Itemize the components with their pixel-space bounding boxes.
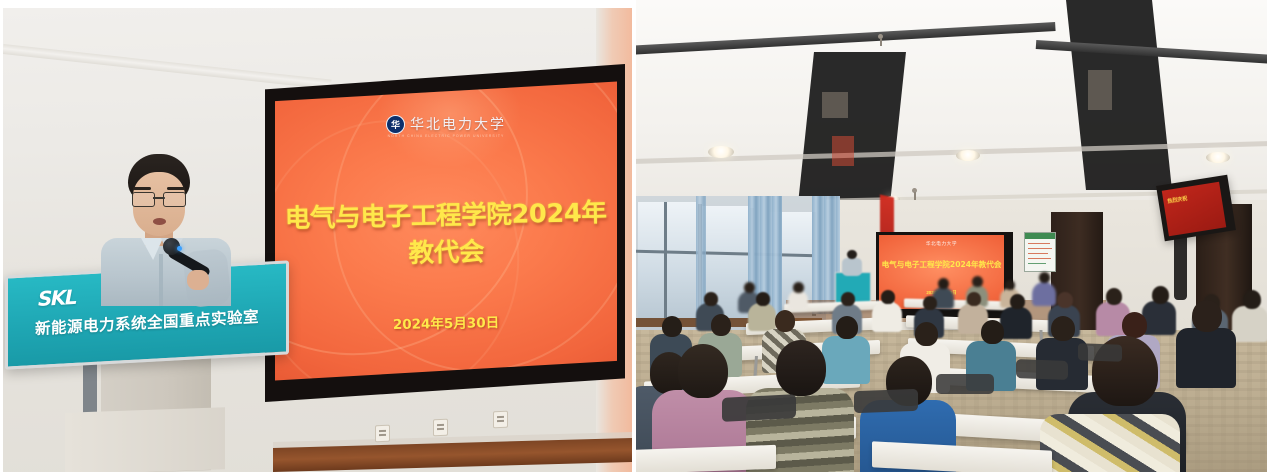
attendee-head xyxy=(1122,312,1147,338)
attendee-body xyxy=(788,290,808,310)
attendee-head xyxy=(981,320,1004,344)
wall-notice-sign xyxy=(1024,232,1056,272)
notice-line xyxy=(1028,258,1051,259)
attendee xyxy=(1232,290,1267,338)
glasses-lens-left xyxy=(132,192,155,207)
front-speaker-person xyxy=(842,250,862,276)
window-mullion xyxy=(664,202,667,320)
shirt-placket xyxy=(159,254,163,306)
wall-outlet xyxy=(433,419,448,437)
attendee-head xyxy=(1010,294,1025,309)
attendee-head xyxy=(793,282,804,293)
attendee-head xyxy=(776,340,826,396)
skl-logo: SKL xyxy=(38,285,76,311)
wall-outlet xyxy=(375,425,390,443)
attendee-body xyxy=(1040,414,1180,472)
attendee-head xyxy=(756,292,770,306)
speaker-eyebrow-left xyxy=(133,187,151,190)
sprinkler-head xyxy=(912,188,917,200)
front-screen-logo: 华北电力大学 xyxy=(879,241,1004,247)
ceiling-downlight xyxy=(1206,152,1230,163)
notice-header-band xyxy=(1025,233,1055,239)
two-photo-composite: 华 华北电力大学 NORTH CHINA ELECTRIC POWER UNIV… xyxy=(0,0,1267,472)
slide-title: 电气与电子工程学院2024年教代会 xyxy=(275,192,617,273)
ceiling-downlight xyxy=(708,146,734,158)
recess-interior xyxy=(832,136,854,166)
attendee-body xyxy=(1232,306,1267,342)
attendee-head xyxy=(1152,286,1169,304)
window-pane xyxy=(638,202,696,320)
glasses-icon xyxy=(132,192,186,205)
microphone-led-indicator xyxy=(177,246,182,251)
speaker-eyebrow-right xyxy=(167,187,185,190)
university-name-cn: 华北电力大学 xyxy=(410,114,506,134)
right-photo-audience-wide-shot: 华北电力大学 电气与电子工程学院2024年教代会 2024年5月30日 热烈庆祝 xyxy=(636,0,1267,472)
chair-back xyxy=(722,394,796,422)
front-speaker-head xyxy=(847,250,857,259)
attendee-head xyxy=(775,310,795,332)
attendee-head xyxy=(938,278,949,289)
chair-back xyxy=(1016,359,1068,380)
attendee-head xyxy=(915,322,938,346)
university-name-en: NORTH CHINA ELECTRIC POWER UNIVERSITY xyxy=(275,134,617,138)
projection-screen-surface: 华 华北电力大学 NORTH CHINA ELECTRIC POWER UNIV… xyxy=(275,80,617,382)
speaker-mouth xyxy=(153,218,166,225)
attendee-foreground xyxy=(1040,414,1180,472)
attendee-head xyxy=(1243,290,1261,309)
attendee-head xyxy=(711,314,731,336)
lectern-base xyxy=(65,407,225,472)
attendee-head xyxy=(1039,272,1050,283)
sprinkler-head xyxy=(878,34,883,46)
attendee-head xyxy=(1005,280,1015,290)
speaker-hand xyxy=(187,270,209,290)
glasses-lens-right xyxy=(163,192,186,207)
wall-tv-screen: 热烈庆祝 xyxy=(1162,182,1226,237)
attendee-head xyxy=(1057,292,1073,308)
front-speaker-body xyxy=(842,258,862,276)
chair-back xyxy=(854,389,918,413)
attendee xyxy=(872,290,902,328)
attendee-head xyxy=(972,276,983,287)
attendee-head xyxy=(678,344,728,398)
attendee-body xyxy=(872,302,902,332)
ceiling-downlight xyxy=(956,150,980,161)
attendee-head xyxy=(841,292,855,306)
attendee-head xyxy=(923,296,937,310)
speaker-person xyxy=(101,154,231,304)
desk-row-foreground xyxy=(636,445,776,472)
notice-line xyxy=(1028,248,1052,249)
attendee-head xyxy=(967,292,981,306)
front-screen-title: 电气与电子工程学院2024年教代会 xyxy=(879,259,1004,270)
notice-line xyxy=(1028,253,1048,254)
attendee xyxy=(788,282,808,308)
attendee-head xyxy=(662,316,682,337)
wall-outlet xyxy=(493,411,508,429)
attendee-head xyxy=(704,292,718,306)
wall-tv-text: 热烈庆祝 xyxy=(1167,191,1217,205)
attendee-head xyxy=(881,290,895,304)
attendee-head xyxy=(1192,300,1222,332)
attendee-head xyxy=(836,316,858,339)
recess-interior xyxy=(822,92,848,118)
slide-university-logo: 华 华北电力大学 NORTH CHINA ELECTRIC POWER UNIV… xyxy=(275,114,617,134)
chair-back xyxy=(1078,343,1122,362)
recess-interior xyxy=(1088,70,1112,110)
notice-line xyxy=(1028,243,1050,244)
notice-line xyxy=(1028,263,1046,264)
chair-back xyxy=(936,374,994,394)
attendee-head xyxy=(1106,288,1122,305)
left-photo-speaker-at-podium: 华 华北电力大学 NORTH CHINA ELECTRIC POWER UNIV… xyxy=(3,8,632,472)
university-logo-mark: 华 xyxy=(386,115,405,134)
